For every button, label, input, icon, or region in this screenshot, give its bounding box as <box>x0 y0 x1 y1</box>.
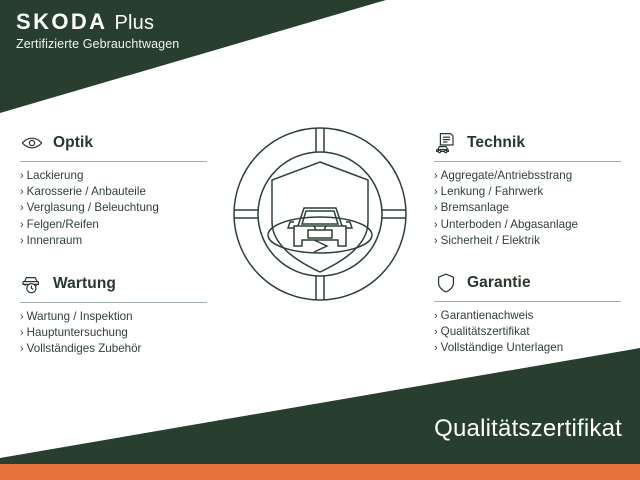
section-wartung-header: Wartung <box>20 271 210 297</box>
section-optik: Optik ›Lackierung ›Karosserie / Anbautei… <box>20 130 210 249</box>
list-item: ›Felgen/Reifen <box>20 217 210 233</box>
list-item: ›Vollständige Unterlagen <box>434 340 624 356</box>
brand-logo-row: SKODA Plus <box>16 11 179 33</box>
list-item-label: Innenraum <box>27 233 82 249</box>
list-item: ›Qualitätszertifikat <box>434 324 624 340</box>
eye-icon <box>20 131 44 155</box>
list-item-label: Vollständiges Zubehör <box>27 341 142 357</box>
footer-green-wedge <box>0 340 640 465</box>
section-garantie: Garantie ›Garantienachweis ›Qualitätszer… <box>434 270 624 357</box>
chevron-right-icon: › <box>434 340 438 356</box>
section-optik-title: Optik <box>53 134 93 152</box>
chevron-right-icon: › <box>20 184 24 200</box>
brand-subtitle: Zertifizierte Gebrauchtwagen <box>16 37 179 51</box>
chevron-right-icon: › <box>20 217 24 233</box>
section-optik-list: ›Lackierung ›Karosserie / Anbauteile ›Ve… <box>20 168 210 249</box>
chevron-right-icon: › <box>20 341 24 357</box>
list-item-label: Lackierung <box>27 168 84 184</box>
chevron-right-icon: › <box>20 325 24 341</box>
list-item: ›Lenkung / Fahrwerk <box>434 184 624 200</box>
certificate-page: SKODA Plus Zertifizierte Gebrauchtwagen … <box>0 0 640 480</box>
footer-orange-stripe <box>0 464 640 480</box>
list-item: ›Karosserie / Anbauteile <box>20 184 210 200</box>
section-divider <box>20 302 207 303</box>
chevron-right-icon: › <box>434 168 438 184</box>
list-item-label: Verglasung / Beleuchtung <box>27 200 159 216</box>
section-divider <box>434 161 621 162</box>
list-item: ›Innenraum <box>20 233 210 249</box>
car-document-icon <box>434 131 458 155</box>
chevron-right-icon: › <box>434 308 438 324</box>
list-item-label: Lenkung / Fahrwerk <box>441 184 543 200</box>
chevron-right-icon: › <box>434 184 438 200</box>
section-wartung-title: Wartung <box>53 275 116 293</box>
left-column: Optik ›Lackierung ›Karosserie / Anbautei… <box>20 130 210 358</box>
chevron-right-icon: › <box>20 233 24 249</box>
shield-icon <box>434 271 458 295</box>
chevron-right-icon: › <box>434 233 438 249</box>
section-wartung: Wartung ›Wartung / Inspektion ›Hauptunte… <box>20 271 210 358</box>
brand-name: SKODA <box>16 11 107 33</box>
chevron-right-icon: › <box>20 200 24 216</box>
section-wartung-list: ›Wartung / Inspektion ›Hauptuntersuchung… <box>20 309 210 358</box>
list-item: ›Aggregate/Antriebsstrang <box>434 168 624 184</box>
section-divider <box>20 161 207 162</box>
list-item: ›Verglasung / Beleuchtung <box>20 200 210 216</box>
section-garantie-title: Garantie <box>467 274 531 292</box>
brand-suffix: Plus <box>114 13 154 33</box>
section-garantie-header: Garantie <box>434 270 624 296</box>
list-item: ›Wartung / Inspektion <box>20 309 210 325</box>
list-item-label: Unterboden / Abgasanlage <box>441 217 578 233</box>
list-item: ›Garantienachweis <box>434 308 624 324</box>
section-technik-list: ›Aggregate/Antriebsstrang ›Lenkung / Fah… <box>434 168 624 249</box>
section-technik-header: Technik <box>434 130 624 156</box>
list-item: ›Vollständiges Zubehör <box>20 341 210 357</box>
list-item-label: Aggregate/Antriebsstrang <box>441 168 572 184</box>
brand-logo: SKODA Plus Zertifizierte Gebrauchtwagen <box>16 11 179 51</box>
list-item: ›Hauptuntersuchung <box>20 325 210 341</box>
list-item-label: Sicherheit / Elektrik <box>441 233 540 249</box>
list-item-label: Hauptuntersuchung <box>27 325 128 341</box>
list-item-label: Bremsanlage <box>441 200 509 216</box>
chevron-right-icon: › <box>434 324 438 340</box>
car-service-clock-icon <box>20 272 44 296</box>
list-item: ›Unterboden / Abgasanlage <box>434 217 624 233</box>
list-item: ›Lackierung <box>20 168 210 184</box>
page-title: Qualitätszertifikat <box>434 415 622 443</box>
list-item-label: Felgen/Reifen <box>27 217 99 233</box>
list-item-label: Karosserie / Anbauteile <box>27 184 146 200</box>
list-item-label: Wartung / Inspektion <box>27 309 133 325</box>
chevron-right-icon: › <box>20 309 24 325</box>
chevron-right-icon: › <box>434 200 438 216</box>
section-technik: Technik ›Aggregate/Antriebsstrang ›Lenku… <box>434 130 624 249</box>
chevron-right-icon: › <box>20 168 24 184</box>
list-item: ›Sicherheit / Elektrik <box>434 233 624 249</box>
list-item-label: Qualitätszertifikat <box>441 324 530 340</box>
right-column: Technik ›Aggregate/Antriebsstrang ›Lenku… <box>434 130 624 357</box>
list-item: ›Bremsanlage <box>434 200 624 216</box>
section-divider <box>434 301 621 302</box>
list-item-label: Vollständige Unterlagen <box>441 340 563 356</box>
list-item-label: Garantienachweis <box>441 308 534 324</box>
section-garantie-list: ›Garantienachweis ›Qualitätszertifikat ›… <box>434 308 624 357</box>
certified-vehicle-shield-emblem <box>228 122 412 306</box>
section-technik-title: Technik <box>467 134 525 152</box>
chevron-right-icon: › <box>434 217 438 233</box>
section-optik-header: Optik <box>20 130 210 156</box>
